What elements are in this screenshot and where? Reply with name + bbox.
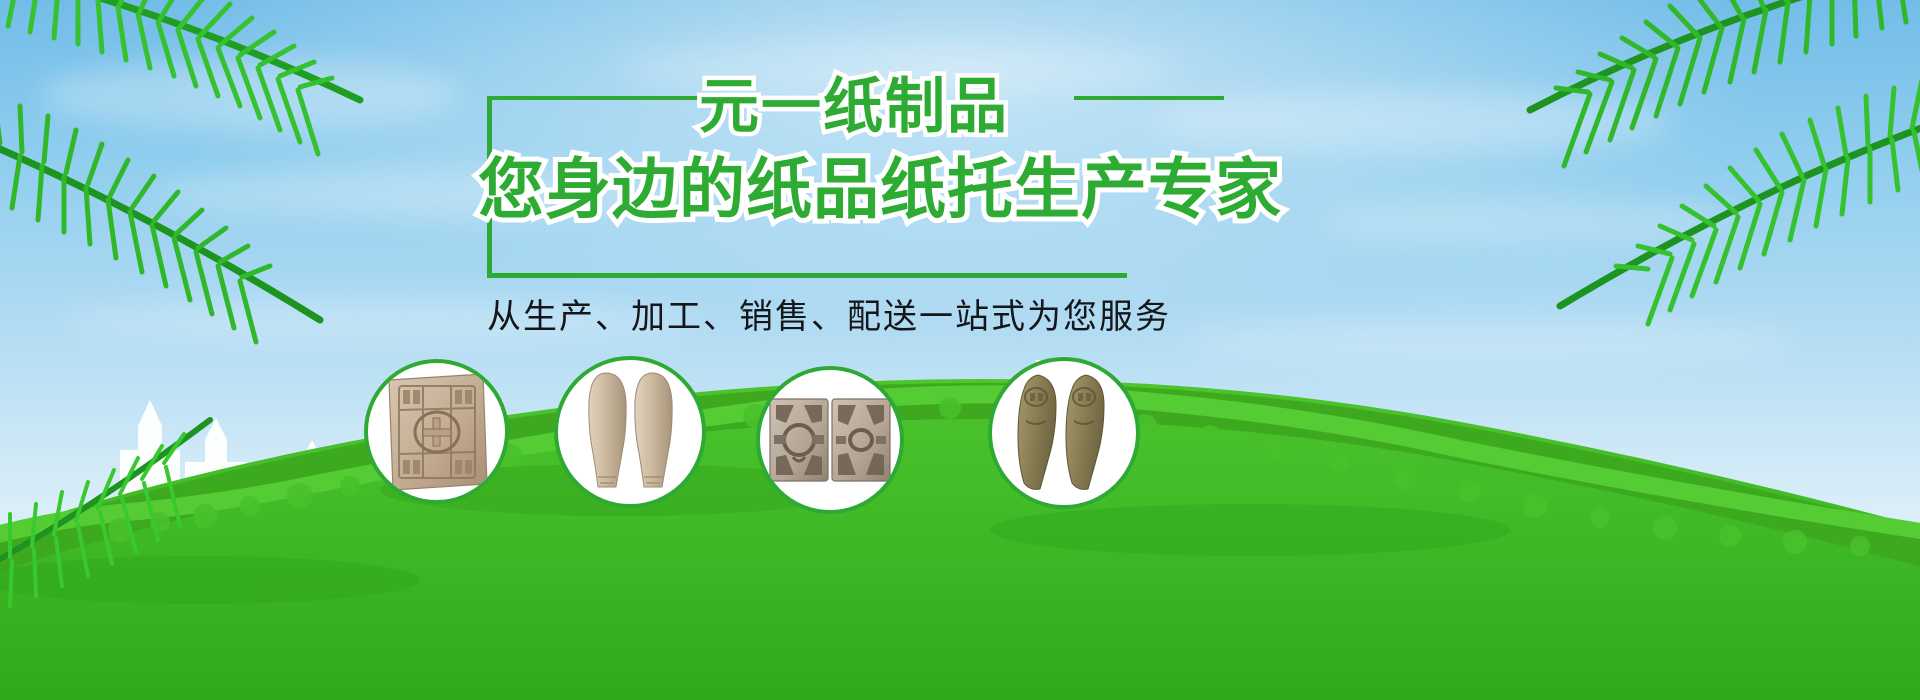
paper-pulp-shoe-tree-icon [1012, 371, 1116, 495]
palm-frond-icon [1530, 70, 1920, 340]
palm-frond-icon [0, 80, 340, 360]
product-circle-3[interactable] [756, 366, 904, 514]
paper-pulp-tray-icon [383, 372, 491, 492]
paper-pulp-shoe-insert-icon [576, 367, 684, 497]
frame-top-right-rule [1074, 96, 1224, 100]
paper-pulp-pair-tray-icon [768, 395, 892, 485]
product-circle-1[interactable] [364, 359, 509, 504]
product-circle-4[interactable] [988, 357, 1140, 509]
promo-banner: 元一纸制品 您身边的纸品纸托生产专家 从生产、加工、销售、配送一站式为您服务 [0, 0, 1920, 700]
subtitle: 从生产、加工、销售、配送一站式为您服务 [487, 289, 1147, 338]
title-frame: 元一纸制品 您身边的纸品纸托生产专家 [487, 96, 1127, 278]
frame-bottom-border [487, 273, 1127, 278]
brand-title: 元一纸制品 [699, 58, 1009, 145]
headline: 您身边的纸品纸托生产专家 [478, 136, 1282, 232]
product-circle-2[interactable] [554, 356, 706, 508]
frame-top-left-rule [487, 96, 699, 100]
palm-frond-icon [0, 400, 230, 630]
